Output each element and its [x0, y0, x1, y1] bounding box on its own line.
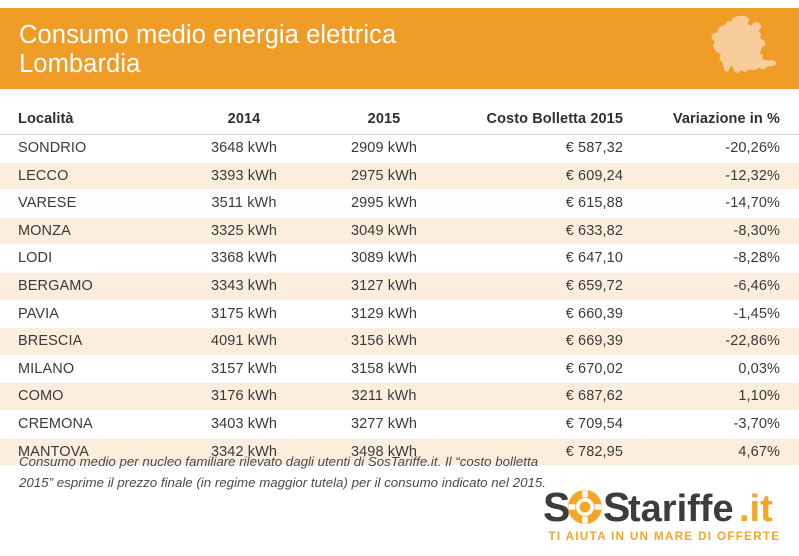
- column-header-2015: 2015: [305, 89, 465, 135]
- cell-costo: € 709,54: [465, 410, 641, 438]
- cell-2015: 2995 kWh: [305, 190, 465, 218]
- cell-2014: 3368 kWh: [185, 245, 305, 273]
- column-header-variazione: Variazione in %: [641, 89, 799, 135]
- cell-2015: 3129 kWh: [305, 300, 465, 328]
- cell-2015: 3277 kWh: [305, 410, 465, 438]
- column-header-localita: Località: [0, 89, 185, 135]
- cell-variazione: 0,03%: [641, 355, 799, 383]
- cell-localita: MONZA: [0, 217, 185, 245]
- cell-variazione: -6,46%: [641, 272, 799, 300]
- table-body: SONDRIO3648 kWh2909 kWh€ 587,32-20,26%LE…: [0, 135, 799, 466]
- table-row: MONZA3325 kWh3049 kWh€ 633,82-8,30%: [0, 217, 799, 245]
- svg-text:.it: .it: [739, 488, 773, 530]
- consumption-table-container: Località 2014 2015 Costo Bolletta 2015 V…: [0, 89, 799, 466]
- cell-localita: VARESE: [0, 190, 185, 218]
- cell-variazione: 1,10%: [641, 383, 799, 411]
- cell-2015: 2975 kWh: [305, 162, 465, 190]
- cell-2014: 3325 kWh: [185, 217, 305, 245]
- logo-tagline: TI AIUTA IN UN MARE DI OFFERTE: [546, 530, 783, 543]
- table-row: COMO3176 kWh3211 kWh€ 687,621,10%: [0, 383, 799, 411]
- cell-variazione: 4,67%: [641, 438, 799, 466]
- cell-2014: 3511 kWh: [185, 190, 305, 218]
- cell-2014: 3157 kWh: [185, 355, 305, 383]
- cell-2014: 3393 kWh: [185, 162, 305, 190]
- cell-2015: 2909 kWh: [305, 135, 465, 163]
- cell-costo: € 609,24: [465, 162, 641, 190]
- table-row: LODI3368 kWh3089 kWh€ 647,10-8,28%: [0, 245, 799, 273]
- svg-text:S: S: [603, 485, 630, 530]
- cell-localita: PAVIA: [0, 300, 185, 328]
- cell-localita: MILANO: [0, 355, 185, 383]
- cell-localita: CREMONA: [0, 410, 185, 438]
- lombardia-region-map-icon: [702, 14, 776, 84]
- consumption-table: Località 2014 2015 Costo Bolletta 2015 V…: [0, 89, 799, 466]
- header-band: Consumo medio energia elettrica Lombardi…: [0, 8, 799, 89]
- cell-variazione: -22,86%: [641, 328, 799, 356]
- cell-2014: 3343 kWh: [185, 272, 305, 300]
- cell-localita: COMO: [0, 383, 185, 411]
- cell-2015: 3156 kWh: [305, 328, 465, 356]
- svg-text:S: S: [543, 485, 570, 530]
- table-header-row: Località 2014 2015 Costo Bolletta 2015 V…: [0, 89, 799, 135]
- cell-variazione: -8,28%: [641, 245, 799, 273]
- table-row: PAVIA3175 kWh3129 kWh€ 660,39-1,45%: [0, 300, 799, 328]
- table-header: Località 2014 2015 Costo Bolletta 2015 V…: [0, 89, 799, 135]
- cell-variazione: -1,45%: [641, 300, 799, 328]
- table-row: LECCO3393 kWh2975 kWh€ 609,24-12,32%: [0, 162, 799, 190]
- cell-costo: € 660,39: [465, 300, 641, 328]
- cell-costo: € 633,82: [465, 217, 641, 245]
- cell-variazione: -20,26%: [641, 135, 799, 163]
- cell-variazione: -3,70%: [641, 410, 799, 438]
- footnote-text: Consumo medio per nucleo familiare rilev…: [19, 452, 559, 493]
- cell-costo: € 687,62: [465, 383, 641, 411]
- cell-2015: 3211 kWh: [305, 383, 465, 411]
- table-row: MILANO3157 kWh3158 kWh€ 670,020,03%: [0, 355, 799, 383]
- cell-costo: € 670,02: [465, 355, 641, 383]
- column-header-costo: Costo Bolletta 2015: [465, 89, 641, 135]
- cell-localita: SONDRIO: [0, 135, 185, 163]
- logo-wordmark: S S tariffe .it: [543, 485, 783, 531]
- cell-costo: € 587,32: [465, 135, 641, 163]
- page-title: Consumo medio energia elettrica Lombardi…: [19, 21, 639, 79]
- table-row: SONDRIO3648 kWh2909 kWh€ 587,32-20,26%: [0, 135, 799, 163]
- cell-localita: BERGAMO: [0, 272, 185, 300]
- cell-2014: 3176 kWh: [185, 383, 305, 411]
- cell-2015: 3158 kWh: [305, 355, 465, 383]
- cell-localita: LODI: [0, 245, 185, 273]
- cell-2014: 3648 kWh: [185, 135, 305, 163]
- cell-localita: LECCO: [0, 162, 185, 190]
- sostariffe-logo[interactable]: S S tariffe .it TI AIUTA IN UN MARE DI O…: [543, 485, 783, 551]
- cell-2015: 3049 kWh: [305, 217, 465, 245]
- svg-text:tariffe: tariffe: [628, 488, 734, 530]
- cell-localita: BRESCIA: [0, 328, 185, 356]
- cell-costo: € 659,72: [465, 272, 641, 300]
- table-row: CREMONA3403 kWh3277 kWh€ 709,54-3,70%: [0, 410, 799, 438]
- cell-2014: 4091 kWh: [185, 328, 305, 356]
- cell-2014: 3175 kWh: [185, 300, 305, 328]
- cell-costo: € 647,10: [465, 245, 641, 273]
- cell-variazione: -12,32%: [641, 162, 799, 190]
- table-row: BRESCIA4091 kWh3156 kWh€ 669,39-22,86%: [0, 328, 799, 356]
- cell-costo: € 669,39: [465, 328, 641, 356]
- cell-2014: 3403 kWh: [185, 410, 305, 438]
- table-row: VARESE3511 kWh2995 kWh€ 615,88-14,70%: [0, 190, 799, 218]
- cell-2015: 3127 kWh: [305, 272, 465, 300]
- cell-variazione: -14,70%: [641, 190, 799, 218]
- cell-2015: 3089 kWh: [305, 245, 465, 273]
- cell-costo: € 615,88: [465, 190, 641, 218]
- cell-variazione: -8,30%: [641, 217, 799, 245]
- column-header-2014: 2014: [185, 89, 305, 135]
- table-row: BERGAMO3343 kWh3127 kWh€ 659,72-6,46%: [0, 272, 799, 300]
